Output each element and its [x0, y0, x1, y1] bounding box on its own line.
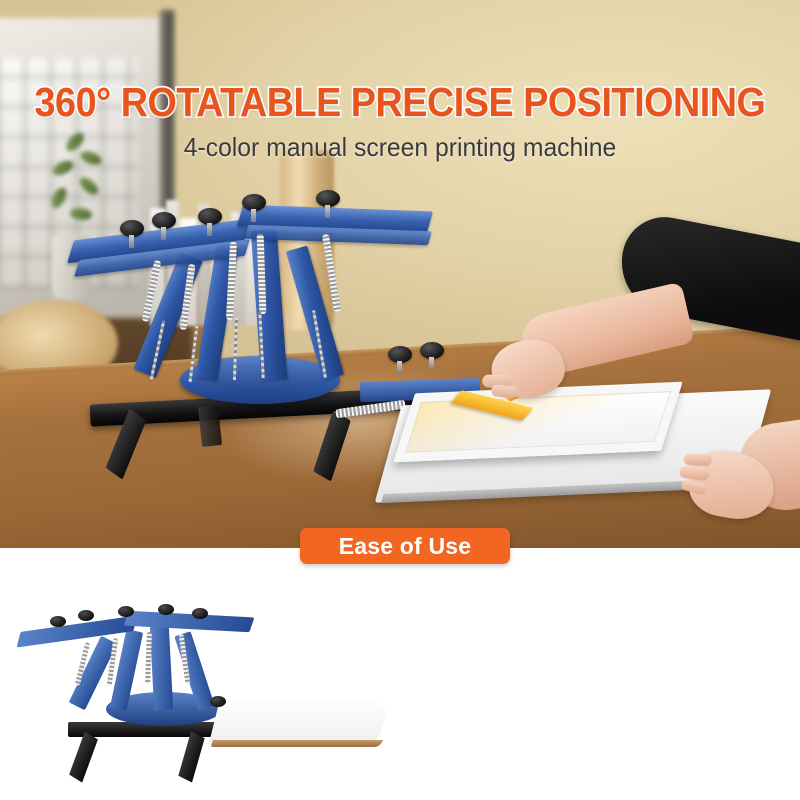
product-spring-3	[145, 632, 152, 684]
product-platen-edge	[211, 740, 383, 747]
product-leg-right	[178, 732, 204, 783]
product-leg-left	[69, 731, 98, 782]
ease-of-use-badge-label: Ease of Use	[339, 533, 472, 560]
product-knob-1[interactable]	[50, 616, 66, 627]
tension-spring-5	[322, 234, 341, 312]
product-platen	[209, 702, 387, 744]
adjustment-knob-1[interactable]	[120, 220, 144, 237]
product-marketing-image: 360° ROTATABLE PRECISE POSITIONING 4-col…	[0, 0, 800, 800]
adjustment-knob-2[interactable]	[152, 212, 176, 229]
product-clamp-bar-left	[17, 615, 138, 647]
machine-leg-rear	[198, 405, 222, 447]
product-knob-4[interactable]	[158, 604, 174, 615]
bottom-section: Squeegee Image Ink Screen Printed image	[0, 548, 800, 800]
adjustment-knob-4[interactable]	[242, 194, 266, 211]
product-arm-3	[150, 626, 173, 711]
screen-mesh	[405, 391, 671, 453]
hero-photo: 360° ROTATABLE PRECISE POSITIONING 4-col…	[0, 0, 800, 548]
product-knob-2[interactable]	[78, 610, 94, 621]
page-title: 360° ROTATABLE PRECISE POSITIONING	[32, 78, 768, 126]
product-side-view	[6, 596, 406, 786]
ease-of-use-badge: Ease of Use	[300, 528, 510, 564]
platen-knob-1[interactable]	[388, 346, 412, 363]
screen-printing-machine	[60, 168, 440, 468]
product-platen-knob[interactable]	[210, 696, 226, 707]
page-subtitle: 4-color manual screen printing machine	[20, 130, 780, 164]
platen-knob-2[interactable]	[420, 342, 444, 359]
product-knob-3[interactable]	[118, 606, 134, 617]
adjustment-knob-3[interactable]	[198, 208, 222, 225]
adjustment-knob-5[interactable]	[316, 190, 340, 207]
product-clamp-bar-right	[124, 611, 255, 632]
product-knob-5[interactable]	[192, 608, 208, 619]
